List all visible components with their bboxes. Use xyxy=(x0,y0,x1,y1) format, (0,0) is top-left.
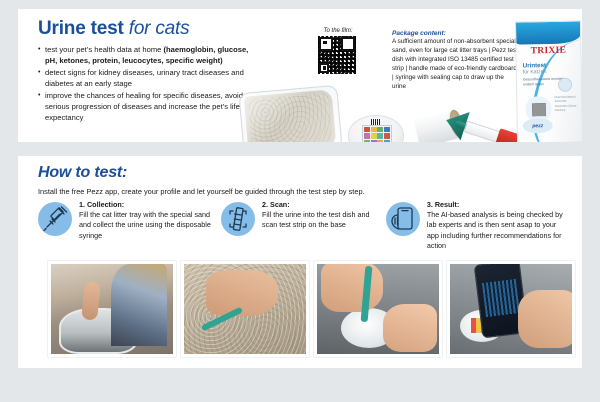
box-fine-print: Inhalt Spezialsand Testschale Teststreif… xyxy=(554,95,578,113)
page-title: Urine test for cats xyxy=(38,18,189,40)
step-2-heading: 2. Scan: xyxy=(262,200,376,210)
syringe-plunger xyxy=(495,128,520,142)
box-qr-icon xyxy=(532,103,545,116)
syringe-icon xyxy=(38,202,72,236)
test-strip-pads xyxy=(362,125,392,142)
test-dish-image xyxy=(348,115,404,142)
steps-list: 1. Collection: Fill the cat litter tray … xyxy=(38,200,568,251)
package-content-body: A sufficient amount of non-absorbent spe… xyxy=(392,38,518,92)
step-3-heading: 3. Result: xyxy=(427,200,568,210)
disposable-syringe-image xyxy=(454,108,523,142)
photo-filling-test-dish xyxy=(314,261,442,357)
qr-eye-top-right xyxy=(347,41,351,45)
bullet-lead-2: improve the chances of healing for speci… xyxy=(45,91,243,122)
page-title-italic: for cats xyxy=(129,18,190,39)
bullet-lead-1: detect signs for kidney diseases, urinar… xyxy=(45,68,244,88)
package-content-heading: Package content: xyxy=(392,30,518,37)
product-info-sheet: Urine test for cats test your pet’s heal… xyxy=(0,0,600,402)
test-strip-scan-icon xyxy=(221,202,255,236)
film-qr-label: To the film: xyxy=(319,28,357,34)
list-item: test your pet’s health data at home (hae… xyxy=(38,45,253,67)
feature-bullet-list: test your pet’s health data at home (hae… xyxy=(38,45,253,125)
hand-holding-dish xyxy=(383,304,437,352)
qr-eye-top-left xyxy=(323,41,327,45)
how-to-test-subtitle: Install the free Pezz app, create your p… xyxy=(38,187,365,196)
page-title-bold: Urine test xyxy=(38,18,124,39)
step-3-result: 3. Result: The AI-based analysis is bein… xyxy=(386,200,568,251)
step-2-scan: 2. Scan: Fill the urine into the test di… xyxy=(221,200,376,251)
syringe-dispensing xyxy=(361,266,373,322)
hand-holding-phone xyxy=(518,290,575,348)
step-2-body: Fill the urine into the test dish and sc… xyxy=(262,210,369,229)
film-qr-block[interactable]: To the film: xyxy=(318,28,357,74)
step-3-text: 3. Result: The AI-based analysis is bein… xyxy=(427,200,568,251)
step-1-body: Fill the cat litter tray with the specia… xyxy=(79,210,211,239)
bottom-panel: How to test: Install the free Pezz app, … xyxy=(18,156,582,368)
photo-scanning-with-phone xyxy=(447,261,575,357)
step-1-text: 1. Collection: Fill the cat litter tray … xyxy=(79,200,211,251)
product-packaging-box: TRIXIE Urintest für Katzen Gesundheitswe… xyxy=(515,20,582,142)
step-1-collection: 1. Collection: Fill the cat litter tray … xyxy=(38,200,211,251)
box-product-subtitle: für Katzen xyxy=(523,69,569,76)
top-panel: Urine test for cats test your pet’s heal… xyxy=(18,9,582,142)
step-2-text: 2. Scan: Fill the urine into the test di… xyxy=(262,200,376,251)
photo-strip xyxy=(48,261,575,357)
box-brand-logo: TRIXIE xyxy=(516,45,580,56)
photo-filling-litter-tray xyxy=(48,261,176,357)
step-3-body: The AI-based analysis is being checked b… xyxy=(427,210,563,250)
photo-collecting-urine-with-syringe xyxy=(181,261,309,357)
step-1-heading: 1. Collection: xyxy=(79,200,211,210)
bullet-lead-0: test your pet’s health data at home xyxy=(45,45,163,54)
package-content-block: Package content: A sufficient amount of … xyxy=(392,30,518,92)
hand-pouring-sand xyxy=(81,281,101,320)
special-sand-bag-image xyxy=(244,89,337,142)
list-item: detect signs for kidney diseases, urinar… xyxy=(38,68,253,90)
syringe-in-litter xyxy=(201,307,243,332)
how-to-test-title: How to test: xyxy=(38,164,127,182)
qr-code-icon[interactable] xyxy=(318,36,356,74)
smartphone-hand-icon xyxy=(386,202,420,236)
list-item: improve the chances of healing for speci… xyxy=(38,91,253,123)
